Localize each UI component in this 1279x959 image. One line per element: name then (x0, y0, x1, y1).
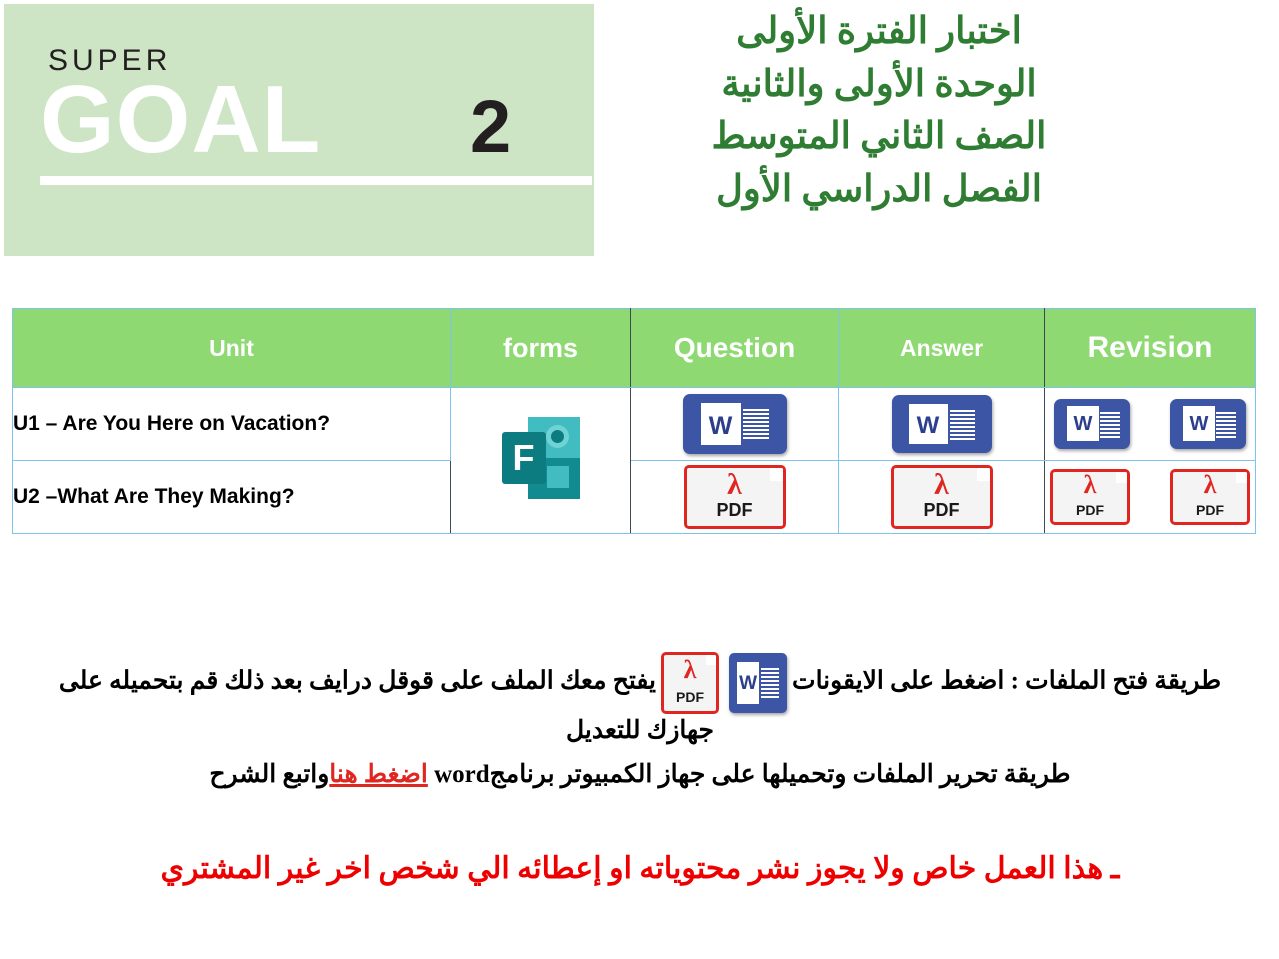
revision-cell-u2[interactable]: λ PDF λ PDF (1045, 461, 1256, 534)
table-row: U2 –What Are They Making? λ PDF λ PDF (13, 461, 1256, 534)
pdf-label: PDF (894, 500, 990, 521)
instructions-line-2-left: واتبع الشرح (209, 761, 329, 788)
pdf-label: PDF (1173, 502, 1247, 518)
instructions-line-2-right: طريقة تحرير الملفات وتحميلها على جهاز ال… (490, 761, 1071, 788)
logo-number: 2 (470, 90, 511, 164)
pdf-swirl-glyph: λ (894, 470, 990, 500)
word-text-lines (950, 408, 975, 440)
forms-link-cell[interactable]: F (451, 388, 631, 534)
column-header-question: Question (631, 309, 839, 388)
pdf-icon[interactable]: λ PDF (891, 465, 993, 529)
word-text-lines (1216, 410, 1236, 438)
forms-checkbox-square (547, 466, 569, 488)
inline-pdf-icon-wrap[interactable]: λ PDF (661, 652, 719, 714)
revision-cell-u1[interactable]: W W (1045, 388, 1256, 461)
forms-radio-circle (546, 425, 569, 448)
pdf-icon[interactable]: λ PDF (684, 465, 786, 529)
word-letter-w: W (909, 412, 948, 440)
word-icon[interactable]: W (1054, 399, 1130, 449)
pdf-swirl-glyph: λ (664, 657, 716, 683)
answer-cell-u2[interactable]: λ PDF (839, 461, 1045, 534)
page-title-line-4: الفصل الدراسي الأول (619, 164, 1139, 217)
word-letter-w: W (701, 412, 741, 441)
page-title-line-2: الوحدة الأولى والثانية (619, 59, 1139, 112)
column-header-forms: forms (451, 309, 631, 388)
page-title: اختبار الفترة الأولى الوحدة الأولى والثا… (619, 6, 1139, 216)
pdf-swirl-glyph: λ (1173, 472, 1247, 498)
pdf-label: PDF (687, 500, 783, 521)
instructions-line-1-left: يفتح معك الملف على قوقل درايف بعد ذلك قم… (59, 668, 714, 744)
pdf-label: PDF (1053, 502, 1127, 518)
revision-icon-pair: λ PDF λ PDF (1045, 469, 1255, 525)
logo-goal-text: GOAL (40, 72, 321, 168)
column-header-revision: Revision (1045, 309, 1256, 388)
word-icon[interactable]: W (1170, 399, 1246, 449)
instructions-line-2: طريقة تحرير الملفات وتحميلها على جهاز ال… (20, 758, 1260, 792)
word-text-lines (761, 666, 779, 700)
unit-label-u2: U2 –What Are They Making? (13, 461, 451, 534)
header-band: SUPER GOAL 2 اختبار الفترة الأولى الوحدة… (0, 0, 1279, 268)
word-text-lines (743, 407, 769, 441)
instructions-line-1: طريقة فتح الملفات : اضغط على الايقونات W… (20, 652, 1260, 748)
revision-icon-pair: W W (1045, 399, 1255, 449)
answer-cell-u1[interactable]: W (839, 388, 1045, 461)
word-icon[interactable]: W (892, 395, 992, 453)
word-icon[interactable]: W (729, 653, 787, 713)
microsoft-forms-icon[interactable]: F (502, 417, 580, 499)
column-header-unit: Unit (13, 309, 451, 388)
copyright-warning: ـ هذا العمل خاص ولا يجوز نشر محتوياته او… (90, 848, 1190, 889)
table-header-row: Unit forms Question Answer Revision (13, 309, 1256, 388)
pdf-icon[interactable]: λ PDF (661, 652, 719, 714)
question-cell-u2[interactable]: λ PDF (631, 461, 839, 534)
instructions-block: طريقة فتح الملفات : اضغط على الايقونات W… (20, 652, 1260, 792)
pdf-swirl-glyph: λ (687, 470, 783, 500)
page-title-line-1: اختبار الفترة الأولى (619, 6, 1139, 59)
resources-table-wrapper: Unit forms Question Answer Revision U1 –… (12, 308, 1255, 534)
inline-word-icon-wrap[interactable]: W (729, 653, 787, 713)
instructions-line-1-right: طريقة فتح الملفات : اضغط على الايقونات (792, 668, 1221, 695)
page-title-line-3: الصف الثاني المتوسط (619, 111, 1139, 164)
forms-letter-f: F (502, 432, 546, 484)
resources-table: Unit forms Question Answer Revision U1 –… (12, 308, 1256, 534)
word-icon[interactable]: W (683, 394, 787, 454)
question-cell-u1[interactable]: W (631, 388, 839, 461)
word-letter-w: W (1067, 413, 1099, 436)
logo-underline-rule (40, 176, 592, 185)
column-header-answer: Answer (839, 309, 1045, 388)
click-here-link[interactable]: اضغط هنا (329, 761, 428, 788)
pdf-icon[interactable]: λ PDF (1170, 469, 1250, 525)
word-letter-w: W (1183, 413, 1215, 436)
word-letter-w: W (737, 671, 759, 697)
program-name-word: word (434, 758, 490, 792)
pdf-label: PDF (664, 688, 716, 707)
unit-label-u1: U1 – Are You Here on Vacation? (13, 388, 451, 461)
table-row: U1 – Are You Here on Vacation? F W (13, 388, 1256, 461)
pdf-swirl-glyph: λ (1053, 472, 1127, 498)
pdf-icon[interactable]: λ PDF (1050, 469, 1130, 525)
super-goal-logo: SUPER GOAL 2 (4, 4, 594, 256)
word-text-lines (1100, 410, 1120, 438)
